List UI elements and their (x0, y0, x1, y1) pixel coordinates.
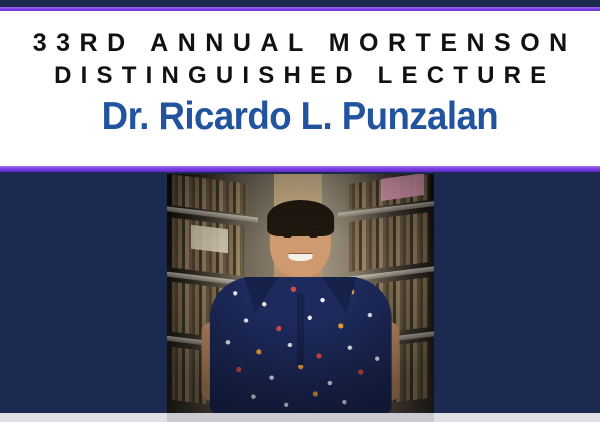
photo-vignette (167, 174, 434, 413)
speaker-photo (167, 174, 434, 413)
top-navy-strip (0, 0, 600, 7)
eyebrow-line-1: 33RD ANNUAL MORTENSON (23, 27, 576, 60)
photo-scene (167, 174, 434, 413)
bottom-band-photo-segment (167, 413, 434, 422)
poster-header: 33RD ANNUAL MORTENSON DISTINGUISHED LECT… (0, 11, 600, 166)
speaker-name: Dr. Ricardo L. Punzalan (102, 95, 498, 139)
lecture-poster: 33RD ANNUAL MORTENSON DISTINGUISHED LECT… (0, 0, 600, 422)
eyebrow-line-2: DISTINGUISHED LECTURE (45, 60, 556, 92)
